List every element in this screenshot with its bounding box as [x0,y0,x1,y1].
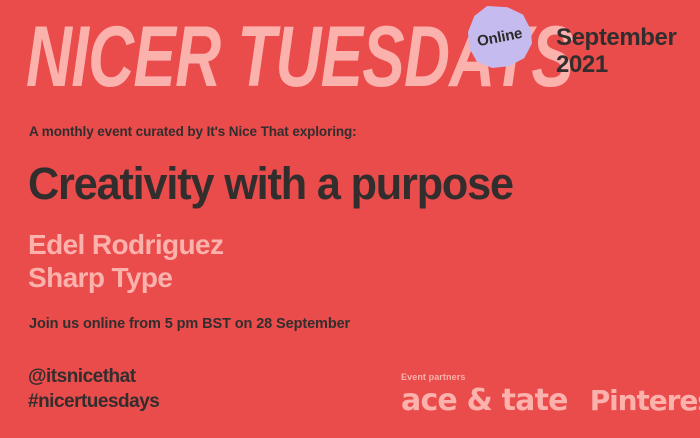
event-series-title: NICER TUESDAYS [26,14,500,100]
speaker-list: Edel Rodriguez Sharp Type [28,228,223,294]
social-handles: @itsnicethat #nicertuesdays [28,364,159,414]
event-date-year: 2021 [556,51,676,78]
event-date-month: September [556,24,676,51]
event-kicker: A monthly event curated by It's Nice Tha… [29,124,357,139]
event-details: Join us online from 5 pm BST on 28 Septe… [29,316,350,332]
online-badge-label: Online [476,24,524,49]
event-date: September 2021 [556,24,676,78]
nicer-tuesdays-event-poster: NICER TUESDAYS Online September 2021 A m… [0,0,700,438]
event-headline: Creativity with a purpose [28,160,513,208]
pinterest-logo: Pinterest [590,385,700,417]
speaker-name: Sharp Type [28,261,223,294]
speaker-name: Edel Rodriguez [28,228,223,261]
social-handle-hashtag: #nicertuesdays [28,389,159,414]
event-partners: Event partners ace & tate Pinterest [401,372,681,417]
online-badge: Online [468,6,532,68]
ace-and-tate-logo: ace & tate [401,385,568,417]
event-partners-label: Event partners [401,372,681,382]
event-partners-logos: ace & tate Pinterest [401,385,681,417]
social-handle-account: @itsnicethat [28,364,159,389]
